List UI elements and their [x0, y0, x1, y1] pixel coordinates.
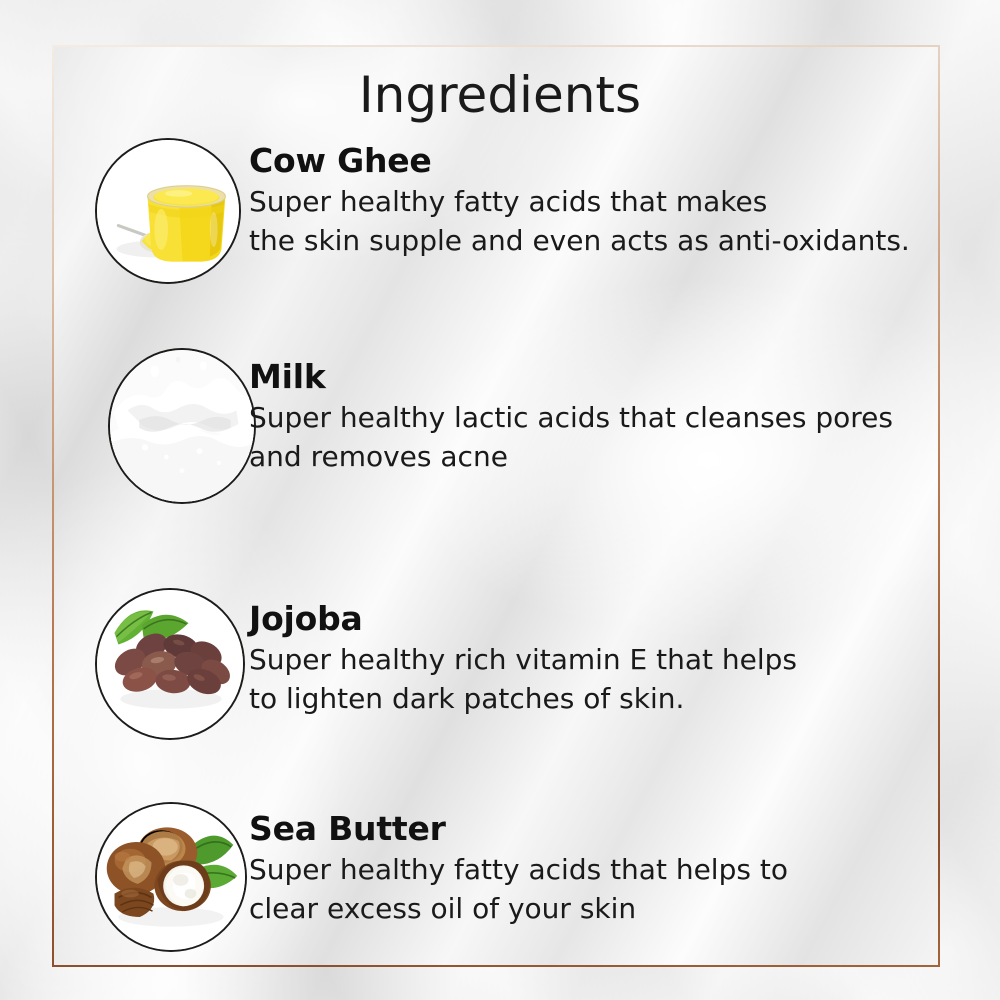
- ingredient-text-block: Jojoba Super healthy rich vitamin E that…: [249, 602, 929, 718]
- ingredient-name: Milk: [249, 360, 929, 393]
- ingredient-description: Super healthy rich vitamin E that helps …: [249, 641, 929, 718]
- ingredient-name: Sea Butter: [249, 812, 929, 845]
- ingredient-description: Super healthy fatty acids that helps to …: [249, 851, 929, 928]
- milk-splash-icon: [110, 350, 254, 502]
- shea-nuts-icon: [97, 804, 245, 950]
- ingredient-image-circle: [95, 138, 241, 284]
- ingredient-name: Jojoba: [249, 602, 929, 635]
- ingredient-text-block: Cow Ghee Super healthy fatty acids that …: [249, 144, 929, 260]
- ingredient-image-circle: [95, 802, 247, 952]
- poster-stage: Ingredients: [0, 0, 1000, 1000]
- ingredient-image-circle: [108, 348, 256, 504]
- ingredient-name: Cow Ghee: [249, 144, 929, 177]
- jojoba-seeds-icon: [97, 590, 243, 738]
- ghee-jar-icon: [97, 140, 239, 282]
- ingredient-text-block: Milk Super healthy lactic acids that cle…: [249, 360, 929, 476]
- poster-content: Ingredients: [0, 0, 1000, 1000]
- ingredient-description: Super healthy lactic acids that cleanses…: [249, 399, 929, 476]
- ingredient-image-circle: [95, 588, 245, 740]
- ingredient-text-block: Sea Butter Super healthy fatty acids tha…: [249, 812, 929, 928]
- page-title: Ingredients: [0, 66, 1000, 124]
- ingredient-description: Super healthy fatty acids that makes the…: [249, 183, 929, 260]
